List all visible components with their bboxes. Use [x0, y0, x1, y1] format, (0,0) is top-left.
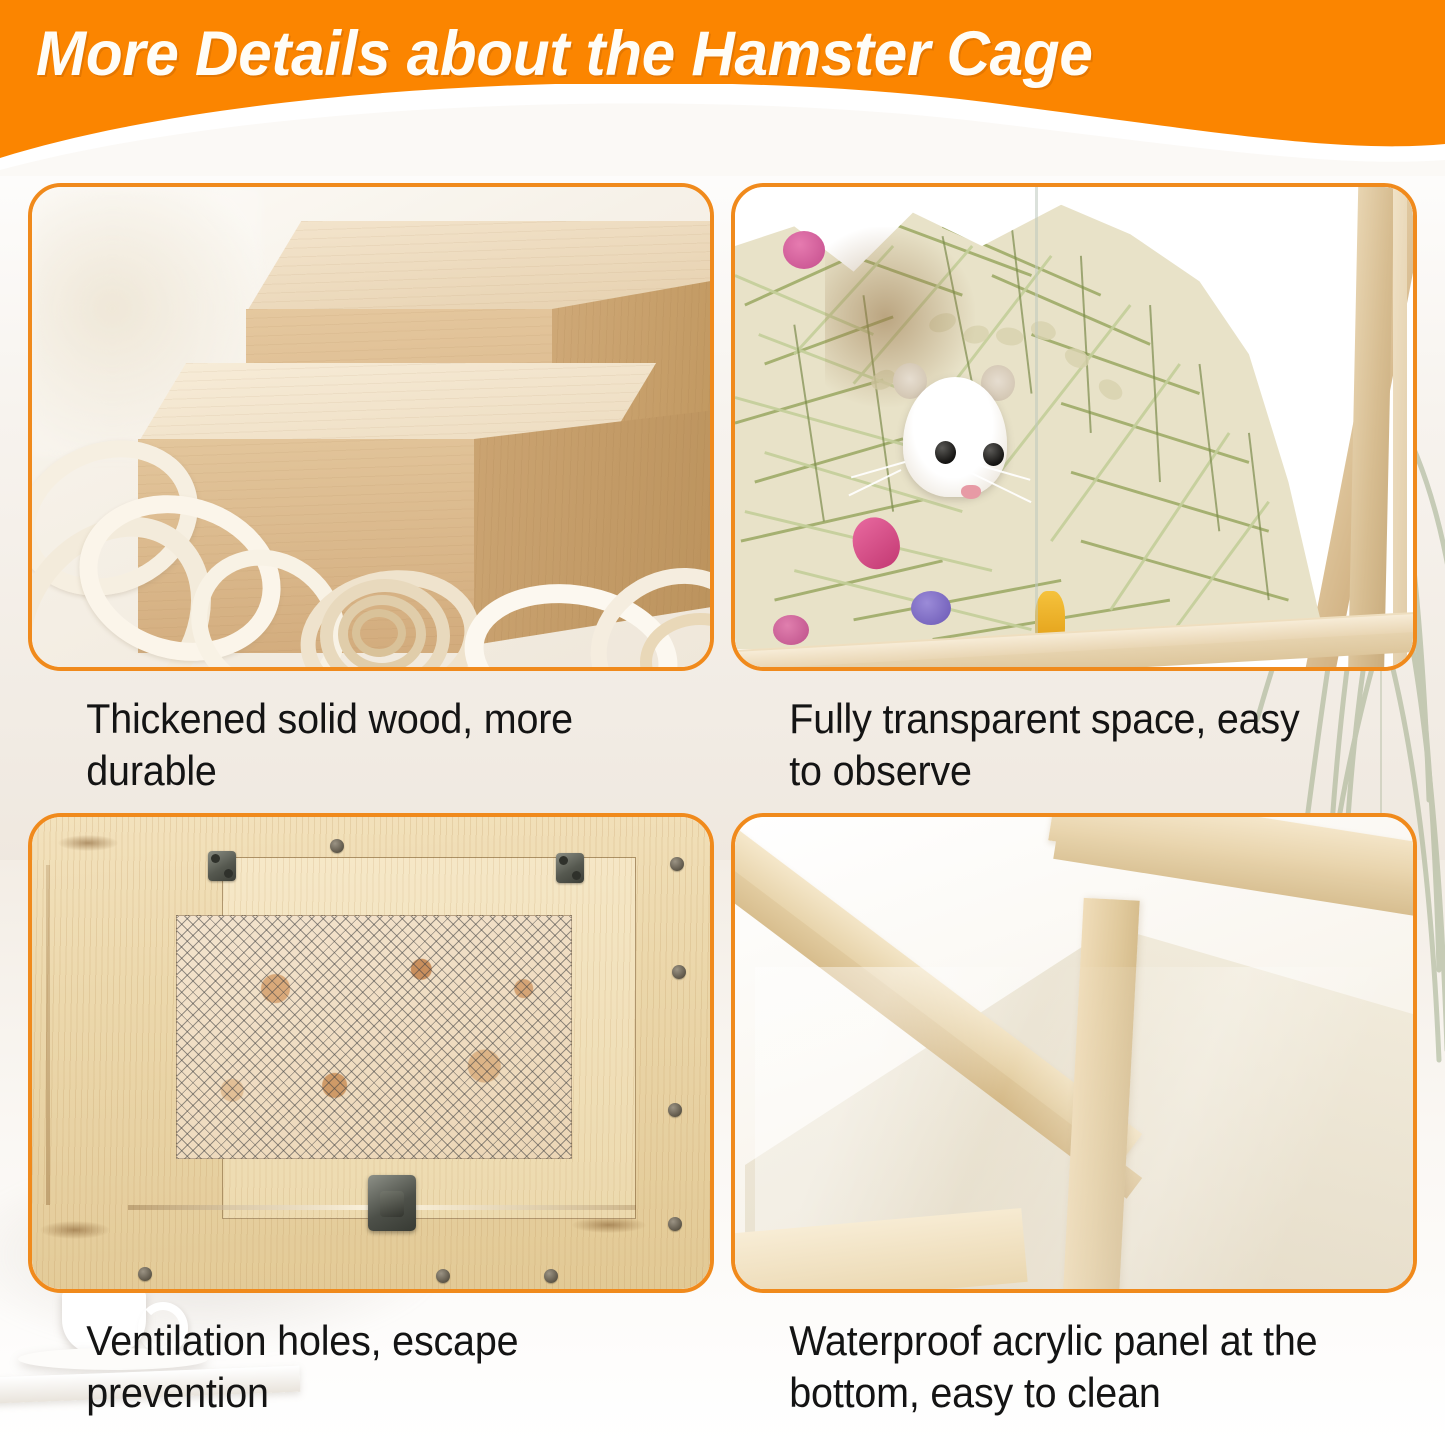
- photo-card-solid-wood[interactable]: [28, 183, 714, 671]
- feature-panel-acrylic-bottom: Waterproof acrylic panel at the bottom, …: [731, 813, 1417, 1419]
- feature-grid: Thickened solid wood, more durable: [0, 0, 1445, 1445]
- hamster-photo-subject: [887, 355, 1023, 507]
- hinge-icon: [556, 853, 584, 883]
- photo-card-ventilation[interactable]: [28, 813, 714, 1293]
- panel-caption-acrylic-bottom: Waterproof acrylic panel at the bottom, …: [731, 1315, 1376, 1419]
- photo-acrylic-panel: [735, 817, 1413, 1289]
- header-wave-divider: [0, 84, 1445, 176]
- feature-panel-ventilation: Ventilation holes, escape prevention: [28, 813, 714, 1419]
- panel-caption-ventilation: Ventilation holes, escape prevention: [28, 1315, 673, 1419]
- photo-card-acrylic-bottom[interactable]: [731, 813, 1417, 1293]
- mesh-ventilation-window: [176, 915, 572, 1159]
- photo-transparent-space: [735, 187, 1413, 667]
- photo-ventilation-door: [32, 817, 710, 1289]
- hinge-icon: [208, 851, 236, 881]
- photo-solid-wood: [32, 187, 710, 667]
- photo-card-transparent-space[interactable]: [731, 183, 1417, 671]
- panel-caption-transparent-space: Fully transparent space, easy to observe: [731, 693, 1376, 797]
- feature-panel-transparent-space: Fully transparent space, easy to observe: [731, 183, 1417, 797]
- header-banner: More Details about the Hamster Cage: [0, 0, 1445, 176]
- feature-panel-solid-wood: Thickened solid wood, more durable: [28, 183, 714, 797]
- panel-caption-solid-wood: Thickened solid wood, more durable: [28, 693, 673, 797]
- latch-icon: [368, 1175, 416, 1231]
